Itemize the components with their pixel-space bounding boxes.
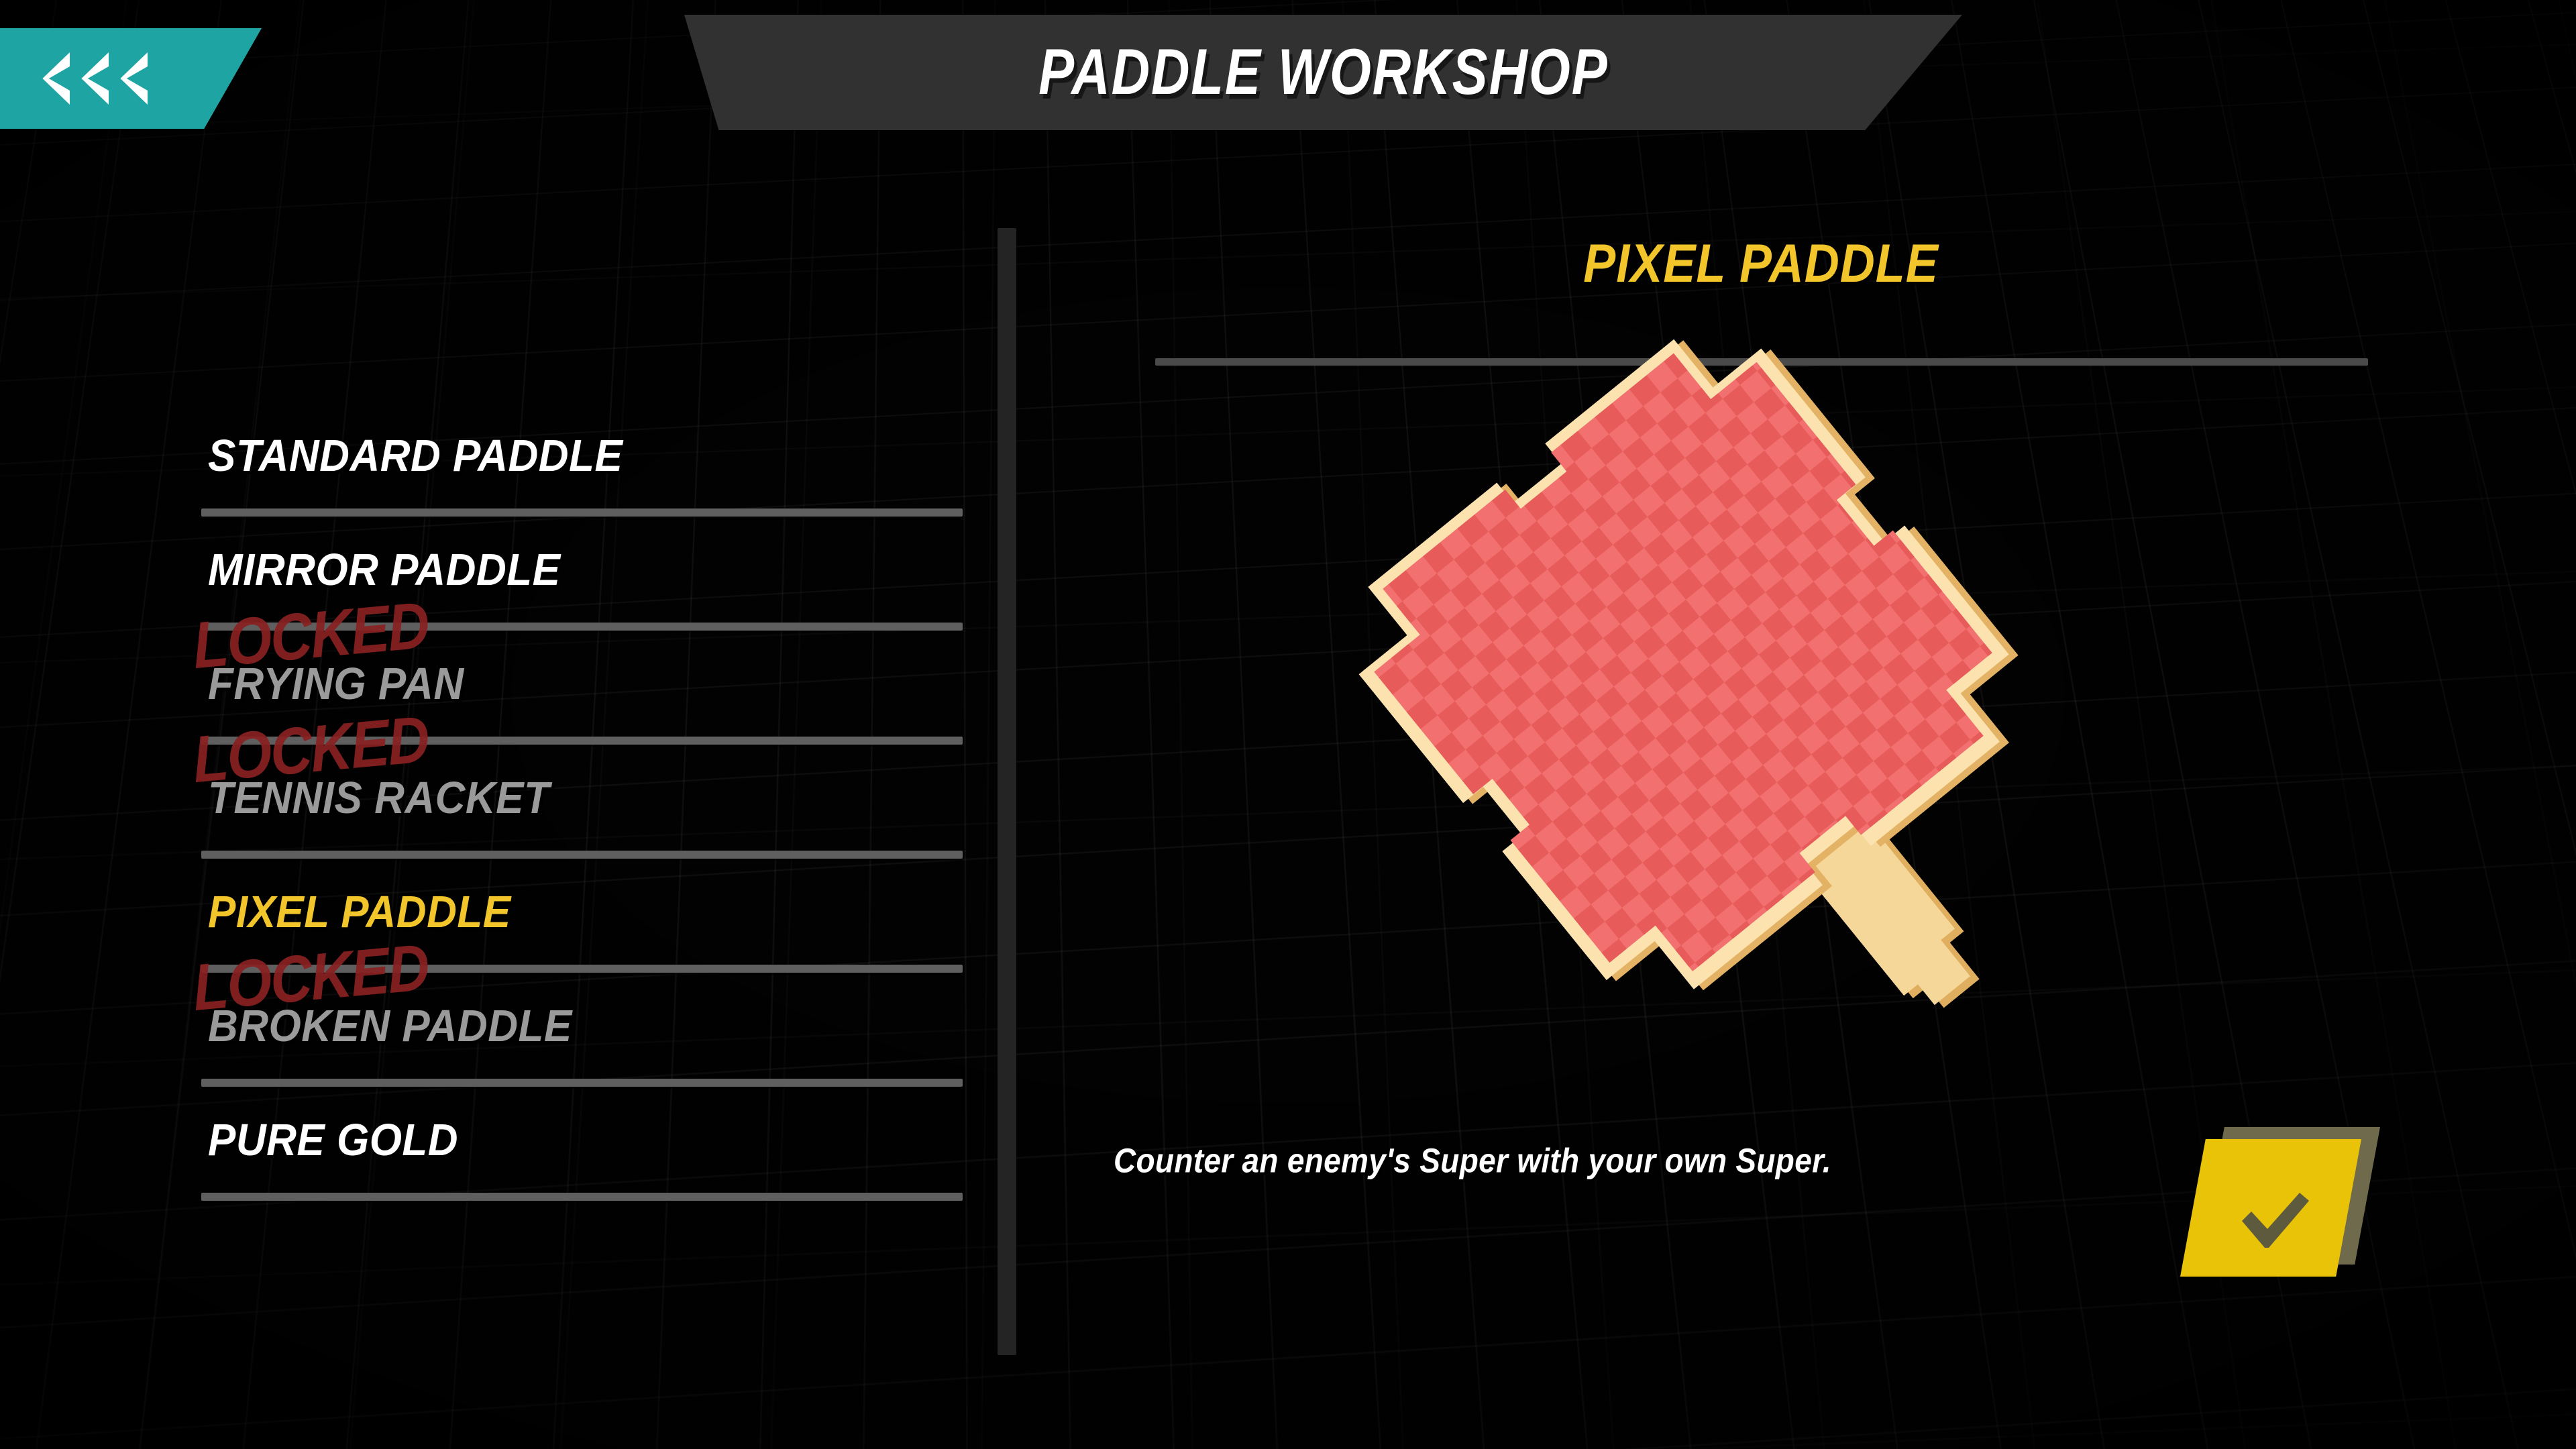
paddle-list-item-label: BROKEN PADDLE xyxy=(208,1000,572,1052)
back-button[interactable] xyxy=(0,28,262,129)
paddle-list-separator xyxy=(201,851,963,859)
paddle-list-item[interactable]: LOCKEDBROKEN PADDLE xyxy=(201,973,966,1087)
check-icon xyxy=(2238,1191,2312,1250)
paddle-list: STANDARD PADDLEMIRROR PADDLELOCKEDFRYING… xyxy=(201,402,966,1201)
paddle-list-separator xyxy=(201,1193,963,1201)
chevron-left-icon xyxy=(113,52,148,105)
paddle-list-item-label: PURE GOLD xyxy=(208,1114,458,1166)
chevron-left-icon xyxy=(74,52,109,105)
paddle-list-item-label: STANDARD PADDLE xyxy=(208,430,623,482)
chevron-left-icon xyxy=(35,52,70,105)
paddle-list-item[interactable]: LOCKEDTENNIS RACKET xyxy=(201,745,966,859)
confirm-button-face xyxy=(2180,1139,2361,1277)
title-banner: PADDLE WORKSHOP xyxy=(684,15,1962,130)
paddle-list-separator xyxy=(201,1079,963,1087)
paddle-list-separator xyxy=(201,508,963,517)
page-title: PADDLE WORKSHOP xyxy=(1038,36,1609,110)
paddle-list-item[interactable]: PURE GOLD xyxy=(201,1087,966,1201)
paddle-list-item-label: FRYING PAN xyxy=(208,658,464,710)
pixel-paddle-preview xyxy=(1362,376,2100,1100)
paddle-list-item[interactable]: STANDARD PADDLE xyxy=(201,402,966,517)
paddle-list-item-label: TENNIS RACKET xyxy=(208,772,549,824)
paddle-list-item-label: MIRROR PADDLE xyxy=(208,544,560,596)
panel-divider xyxy=(998,228,1016,1355)
paddle-list-item-label: PIXEL PADDLE xyxy=(208,886,511,938)
confirm-button[interactable] xyxy=(2180,1127,2395,1281)
paddle-workshop-screen: PADDLE WORKSHOP STANDARD PADDLEMIRROR PA… xyxy=(0,0,2576,1449)
detail-description: Counter an enemy's Super with your own S… xyxy=(1114,1140,2160,1180)
